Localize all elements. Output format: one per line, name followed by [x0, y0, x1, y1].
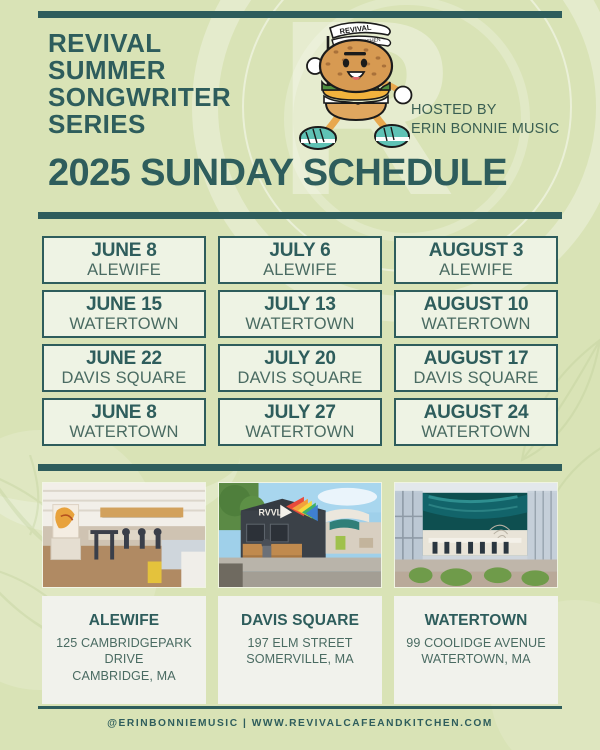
address-line-2: WATERTOWN, MA	[400, 651, 552, 667]
open-facade-interior-photo	[394, 482, 558, 588]
schedule-date: JULY 6	[269, 241, 330, 260]
location-address: 125 CAMBRIDGEPARK DRIVE CAMBRIDGE, MA	[48, 635, 200, 684]
schedule-venue: ALEWIFE	[87, 262, 161, 279]
address-line-2: DRIVE	[48, 651, 200, 667]
schedule-cell[interactable]: JULY 13WATERTOWN	[218, 290, 382, 338]
schedule-cell[interactable]: AUGUST 10WATERTOWN	[394, 290, 558, 338]
burger-mascot-logo: REVIVAL CAFE + KITCHEN	[288, 8, 424, 156]
poster-root: R CAFE +	[0, 0, 600, 750]
location-info: DAVIS SQUARE 197 ELM STREET SOMERVILLE, …	[218, 596, 382, 704]
location-card[interactable]: RVVL DAVIS SQUA	[218, 482, 382, 704]
schedule-cell[interactable]: JULY 20DAVIS SQUARE	[218, 344, 382, 392]
poster-title: REVIVAL SUMMER SONGWRITER SERIES	[48, 30, 231, 138]
schedule-venue: DAVIS SQUARE	[238, 370, 363, 387]
divider-footer	[38, 706, 562, 709]
schedule-cell[interactable]: AUGUST 3ALEWIFE	[394, 236, 558, 284]
location-address: 99 COOLIDGE AVENUE WATERTOWN, MA	[400, 635, 552, 668]
location-info: WATERTOWN 99 COOLIDGE AVENUE WATERTOWN, …	[394, 596, 558, 704]
cafe-interior-photo	[42, 482, 206, 588]
schedule-cell[interactable]: JUNE 15WATERTOWN	[42, 290, 206, 338]
hosted-by-label: HOSTED BY	[411, 101, 559, 120]
schedule-venue: WATERTOWN	[421, 424, 530, 441]
address-line-3: CAMBRIDGE, MA	[48, 668, 200, 684]
schedule-date: JUNE 15	[86, 295, 162, 314]
schedule-cell[interactable]: JULY 6ALEWIFE	[218, 236, 382, 284]
locations-row: ALEWIFE 125 CAMBRIDGEPARK DRIVE CAMBRIDG…	[42, 482, 558, 704]
hosted-by-name: ERIN BONNIE MUSIC	[411, 120, 559, 139]
location-card[interactable]: WATERTOWN 99 COOLIDGE AVENUE WATERTOWN, …	[394, 482, 558, 704]
title-line-3: SONGWRITER	[48, 84, 231, 111]
title-line-4: SERIES	[48, 111, 231, 138]
schedule-cell[interactable]: AUGUST 24WATERTOWN	[394, 398, 558, 446]
schedule-date: JUNE 8	[91, 241, 156, 260]
divider-bottom	[38, 464, 562, 471]
divider-middle	[38, 212, 562, 219]
schedule-heading: 2025 SUNDAY SCHEDULE	[48, 152, 507, 195]
storefront-exterior-photo: RVVL	[218, 482, 382, 588]
title-line-2: SUMMER	[48, 57, 231, 84]
schedule-cell[interactable]: JUNE 8WATERTOWN	[42, 398, 206, 446]
schedule-date: JULY 20	[264, 349, 336, 368]
schedule-grid: JUNE 8ALEWIFE JULY 6ALEWIFE AUGUST 3ALEW…	[42, 236, 558, 446]
schedule-venue: DAVIS SQUARE	[62, 370, 187, 387]
schedule-date: JULY 13	[264, 295, 336, 314]
location-name: ALEWIFE	[48, 612, 200, 630]
address-line-1: 197 ELM STREET	[224, 635, 376, 651]
address-line-1: 99 COOLIDGE AVENUE	[400, 635, 552, 651]
svg-text:RVVL: RVVL	[259, 507, 283, 517]
location-address: 197 ELM STREET SOMERVILLE, MA	[224, 635, 376, 668]
hosted-by-block: HOSTED BY ERIN BONNIE MUSIC	[411, 101, 559, 140]
location-card[interactable]: ALEWIFE 125 CAMBRIDGEPARK DRIVE CAMBRIDG…	[42, 482, 206, 704]
schedule-date: AUGUST 10	[424, 295, 529, 314]
schedule-date: AUGUST 3	[429, 241, 523, 260]
title-line-1: REVIVAL	[48, 30, 231, 57]
schedule-date: AUGUST 24	[424, 403, 529, 422]
schedule-cell[interactable]: JUNE 22DAVIS SQUARE	[42, 344, 206, 392]
schedule-venue: WATERTOWN	[421, 316, 530, 333]
location-name: WATERTOWN	[400, 612, 552, 630]
schedule-venue: WATERTOWN	[69, 424, 178, 441]
schedule-venue: WATERTOWN	[245, 316, 354, 333]
schedule-venue: ALEWIFE	[263, 262, 337, 279]
schedule-venue: WATERTOWN	[69, 316, 178, 333]
schedule-venue: WATERTOWN	[245, 424, 354, 441]
address-line-2: SOMERVILLE, MA	[224, 651, 376, 667]
schedule-date: JUNE 22	[86, 349, 162, 368]
schedule-cell[interactable]: JUNE 8ALEWIFE	[42, 236, 206, 284]
schedule-venue: ALEWIFE	[439, 262, 513, 279]
address-line-1: 125 CAMBRIDGEPARK	[48, 635, 200, 651]
schedule-cell[interactable]: JULY 27WATERTOWN	[218, 398, 382, 446]
schedule-date: JULY 27	[264, 403, 336, 422]
location-name: DAVIS SQUARE	[224, 612, 376, 630]
schedule-cell[interactable]: AUGUST 17DAVIS SQUARE	[394, 344, 558, 392]
schedule-date: AUGUST 17	[424, 349, 529, 368]
schedule-venue: DAVIS SQUARE	[414, 370, 539, 387]
location-info: ALEWIFE 125 CAMBRIDGEPARK DRIVE CAMBRIDG…	[42, 596, 206, 704]
schedule-date: JUNE 8	[91, 403, 156, 422]
footer-handles: @ERINBONNIEMUSIC | WWW.REVIVALCAFEANDKIT…	[0, 718, 600, 729]
